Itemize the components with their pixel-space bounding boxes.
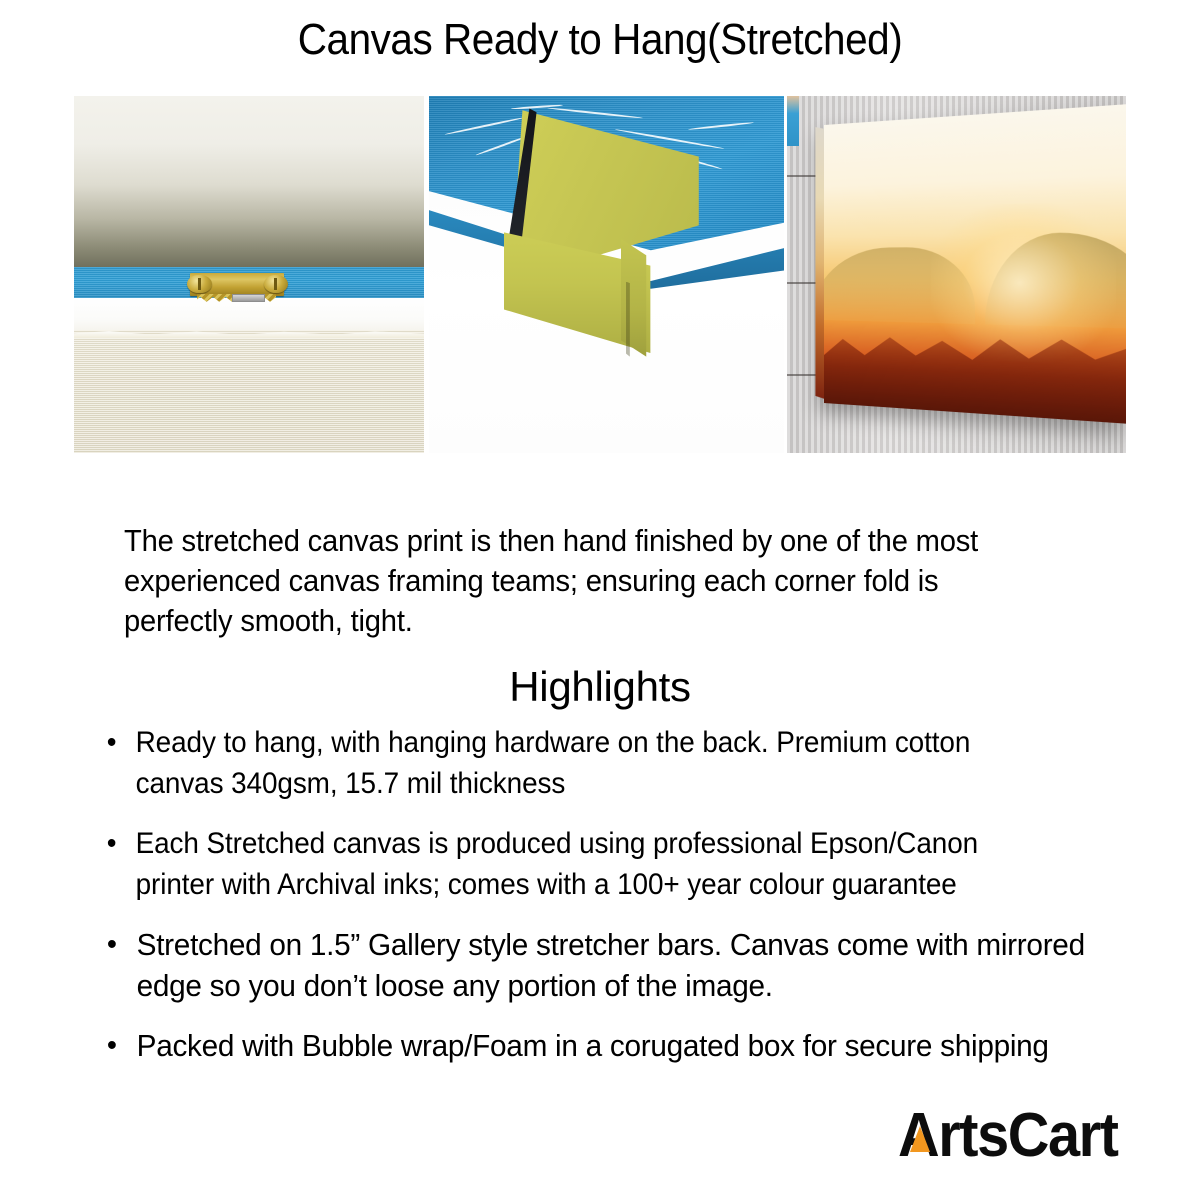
highlight-item-text: Packed with Bubble wrap/Foam in a coruga… — [137, 1028, 1049, 1063]
highlight-item-3: • Stretched on 1.5” Gallery style stretc… — [104, 924, 1093, 1006]
highlight-item-text: Stretched on 1.5” Gallery style stretche… — [137, 927, 1085, 1003]
highlights-heading: Highlights — [0, 662, 1200, 712]
bullet-icon: • — [107, 1025, 117, 1066]
bullet-icon: • — [107, 722, 117, 763]
photo-canvas-back-hanger — [74, 96, 424, 453]
artscart-logo: ArtsCart — [898, 1100, 1134, 1172]
highlight-item-4: • Packed with Bubble wrap/Foam in a coru… — [104, 1025, 1093, 1066]
photo3-canvas-print-face — [824, 104, 1126, 424]
bullet-icon: • — [107, 823, 117, 864]
photo-folded-corner — [429, 96, 784, 453]
photo1-white-band — [74, 298, 424, 334]
highlight-item-2: • Each Stretched canvas is produced usin… — [104, 823, 1062, 905]
highlight-item-text: Ready to hang, with hanging hardware on … — [136, 726, 971, 800]
logo-triangle-icon — [910, 1126, 930, 1152]
photo1-metal-clip — [232, 294, 266, 302]
photo3-sun-glow — [931, 200, 1117, 366]
photo1-screw-left — [187, 275, 212, 294]
page-title: Canvas Ready to Hang(Stretched) — [48, 14, 1152, 66]
highlight-item-1: • Ready to hang, with hanging hardware o… — [104, 722, 1062, 804]
bullet-icon: • — [107, 924, 117, 965]
logo-wordmark: ArtsCart — [898, 1100, 1118, 1172]
highlights-list: • Ready to hang, with hanging hardware o… — [104, 722, 1134, 1085]
product-photo-strip — [74, 96, 1126, 453]
highlight-item-text: Each Stretched canvas is produced using … — [136, 827, 978, 901]
photo3-edge-overlap — [787, 96, 799, 146]
photo1-cream-canvas — [74, 330, 424, 453]
photo-canvas-on-wall — [787, 96, 1126, 453]
photo1-wall-backdrop — [74, 96, 424, 267]
photo3-hanging-canvas — [824, 104, 1126, 424]
product-description: The stretched canvas print is then hand … — [124, 521, 1017, 641]
